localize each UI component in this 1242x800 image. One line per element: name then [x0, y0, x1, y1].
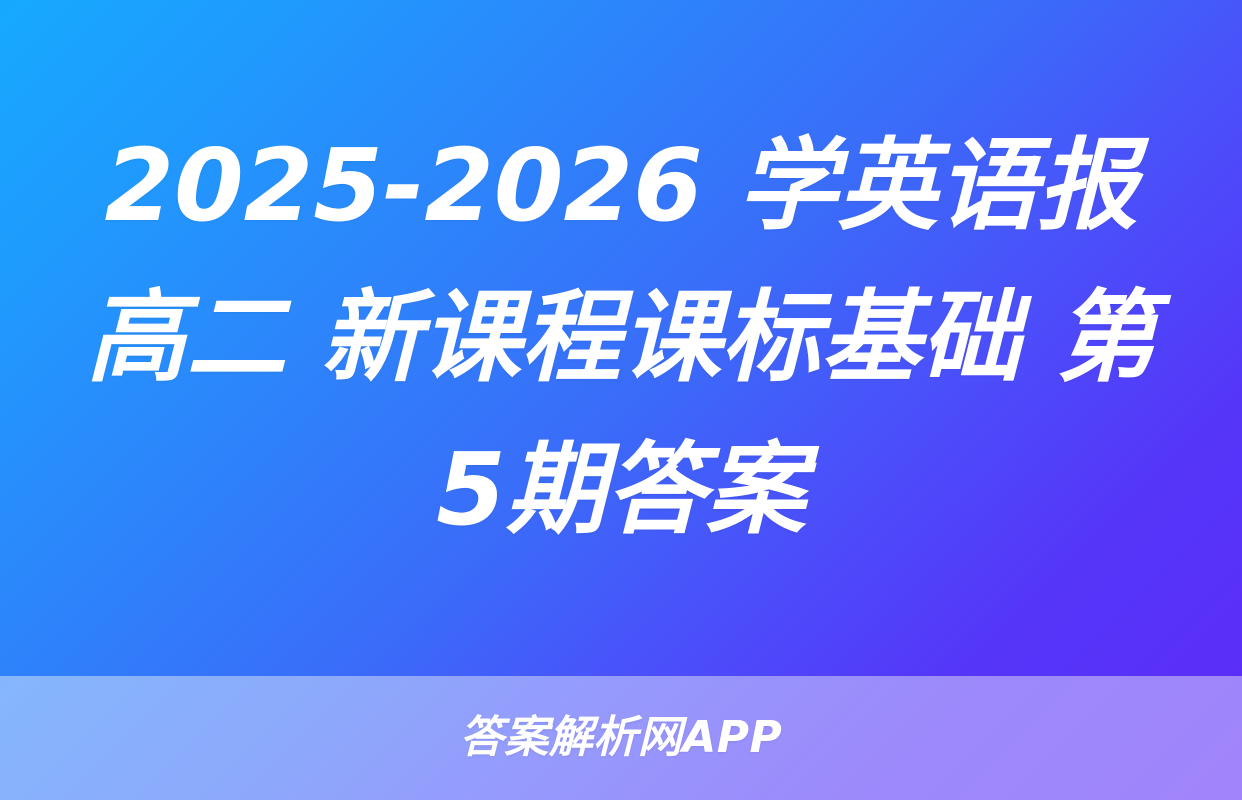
- watermark-band: 答案解析网APP: [0, 676, 1242, 800]
- page-title: 2025-2026 学英语报 高二 新课程课标基础 第5期答案: [61, 110, 1181, 566]
- title-container: 2025-2026 学英语报 高二 新课程课标基础 第5期答案: [0, 0, 1242, 676]
- title-card: 2025-2026 学英语报 高二 新课程课标基础 第5期答案 答案解析网APP: [0, 0, 1242, 800]
- watermark-app-label: 答案解析网APP: [460, 716, 783, 760]
